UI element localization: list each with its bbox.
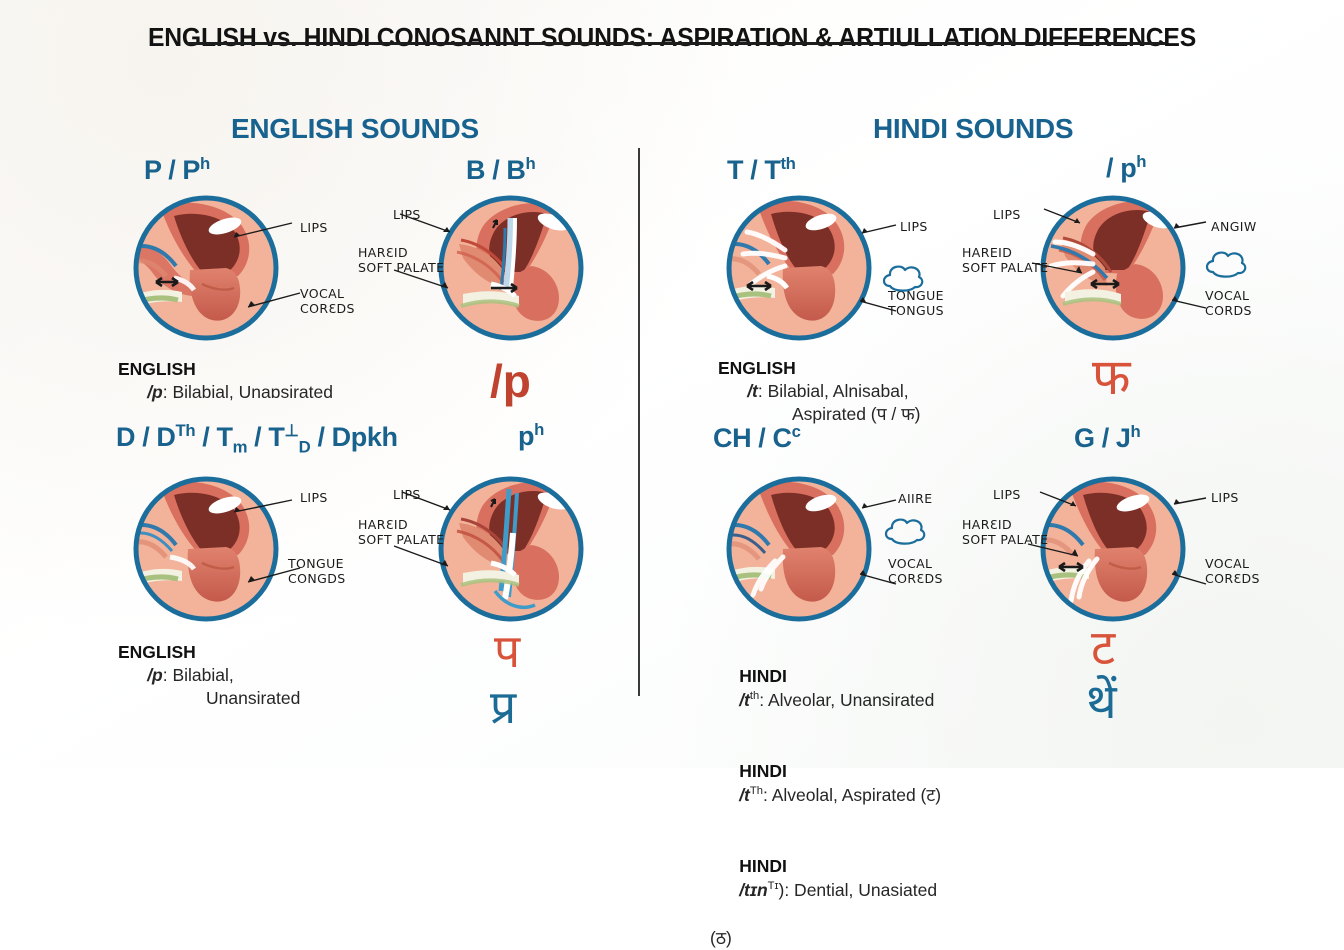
pair-label-sub2: D <box>299 437 311 456</box>
caption-english-d: ENGLISH /p: Bilabial, Unansirated <box>118 641 458 710</box>
callout-palate-english-b: HARƐID SOFT PALATE <box>358 246 444 276</box>
caption-rest: : Alveolar, Unansirated <box>759 690 934 710</box>
title-area: ENGLISH vs. HINDI CONOSANNT SOUNDS: ASPI… <box>0 24 1344 53</box>
pair-label-text: T / T <box>727 155 781 185</box>
pair-label-text: CH / C <box>713 423 792 453</box>
pair-label-hindi-t: T / Tth <box>727 154 796 186</box>
aspiration-puff-icon-hindi-ch <box>882 515 928 549</box>
caption-sup: Th <box>750 785 763 797</box>
aspiration-puff-icon-hindi-ph <box>1203 248 1249 282</box>
diagram-english-ph <box>435 473 587 625</box>
callout-lips-hindi-t: LIPS <box>900 220 928 235</box>
caption-hindi-line-2: HINDI /tTh: Alveolal, Aspirated (ट) <box>710 736 1060 831</box>
callout-lips-english-p: LIPS <box>300 221 328 236</box>
pair-label-text: G / J <box>1074 423 1131 453</box>
callout-lips-hindi-ph: LIPS <box>993 208 1021 223</box>
callout-lips-english-b: LIPS <box>393 208 421 223</box>
pair-label-sup: c <box>792 422 801 441</box>
caption-rest: ): Dential, Unasiated <box>779 880 938 900</box>
caption-hindi-line-1: HINDI /tth: Alveolar, Unansirated <box>710 641 1060 736</box>
pair-label-text: p <box>518 421 534 451</box>
callout-vocal-cords-english-p: VOCAL CORƐDS <box>300 287 355 317</box>
pair-label-rest: / T <box>195 422 232 452</box>
pair-label-sub: m <box>233 437 247 456</box>
caption-sup: Tɪ <box>768 880 779 892</box>
callout-vocal-cords-hindi-g: VOCAL CORƐDS <box>1205 557 1260 587</box>
pair-label-sup: h <box>1131 422 1141 441</box>
pair-label-english-d: D / DTh / Tm / T⊥D / Dpkh <box>116 420 398 457</box>
column-divider <box>638 148 640 696</box>
caption-hindi-t: ENGLISH /t: Bilabial, Alnisabal, Aspirat… <box>718 357 1048 426</box>
caption-ipa: /p <box>147 382 163 402</box>
diagram-hindi-t <box>723 192 875 344</box>
callout-tongue-english-d: TONGUE CONGDS <box>288 557 346 587</box>
pair-label-sup: h <box>526 154 536 173</box>
caption-ipa: /t <box>739 785 750 805</box>
callout-vocal-cords-hindi-ph: VOCAL CORDS <box>1205 289 1252 319</box>
caption-hindi-line-3: HINDI /tɪnTɪ): Dential, Unasiated <box>710 831 1060 926</box>
pair-label-english-p: P / Ph <box>144 154 210 186</box>
pair-label-english-ph: ph <box>518 420 544 452</box>
pair-label-text: D / D <box>116 422 176 452</box>
caption-rest: : Bilabial, Alnisabal, <box>758 381 909 401</box>
callout-lips-left-hindi-g: LIPS <box>993 488 1021 503</box>
callout-palate-hindi-g: HARƐID SOFT PALATE <box>962 518 1048 548</box>
pair-label-sup: Th <box>176 421 196 440</box>
caption-rest: : Alveolal, Aspirated (ट) <box>763 785 941 805</box>
page-title: ENGLISH vs. HINDI CONOSANNT SOUNDS: ASPI… <box>20 24 1324 53</box>
caption-rest: : Bilabial, Unaɒsirated <box>163 382 333 402</box>
pair-label-english-b: B / Bh <box>466 154 535 186</box>
pair-label-text: P / P <box>144 155 200 185</box>
aspiration-puff-icon-hindi-t <box>880 262 926 296</box>
callout-palate-english-ph: HARƐID SOFT PALATE <box>358 518 444 548</box>
pair-label-sup: h <box>534 420 544 439</box>
caption-lang-label: ENGLISH <box>118 642 196 662</box>
caption-ipa: /t <box>747 381 758 401</box>
glyph-devanagari-pha: फ <box>1092 352 1131 402</box>
caption-lang-label: ENGLISH <box>118 359 196 379</box>
caption-sup: th <box>750 690 759 702</box>
callout-airflow-hindi-ph: ANGIW <box>1211 220 1257 235</box>
callout-lips-english-d: LIPS <box>300 491 328 506</box>
caption-line2: Unansirated <box>118 687 458 710</box>
callout-lips-english-ph: LIPS <box>393 488 421 503</box>
pair-label-text: B / B <box>466 155 526 185</box>
diagram-hindi-ch <box>723 473 875 625</box>
glyph-devanagari-pa: प <box>494 628 520 674</box>
pair-label-sup: th <box>781 154 796 173</box>
caption-ipa: /tɪn <box>739 880 767 900</box>
pair-label-rest3: / Dpkh <box>310 422 397 452</box>
callout-airflow-hindi-ch: AIIRE <box>898 492 933 507</box>
pair-label-hindi-ph: / ph <box>1106 152 1146 184</box>
glyph-devanagari-tta: ट <box>1091 624 1115 672</box>
caption-hindi-bottom: HINDI /tth: Alveolar, Unansirated HINDI … <box>710 641 1060 950</box>
infographic-page: ENGLISH vs. HINDI CONOSANNT SOUNDS: ASPI… <box>0 0 1344 768</box>
caption-lang-label: HINDI <box>739 856 787 876</box>
caption-lang-label: HINDI <box>739 666 787 686</box>
caption-rest: : Bilabial, <box>163 665 234 685</box>
section-heading-hindi: HINDI SOUNDS <box>873 113 1073 145</box>
callout-palate-hindi-ph: HAREID SOFT PALATE <box>962 246 1048 276</box>
caption-hindi-line-4: (ठ) <box>710 927 1060 950</box>
glyph-devanagari-pra: प्र <box>490 684 516 730</box>
pair-label-sup: h <box>200 154 210 173</box>
callout-lips-right-hindi-g: LIPS <box>1211 491 1239 506</box>
pair-label-sup2: ⊥ <box>284 421 298 440</box>
pair-label-text: / p <box>1106 153 1136 183</box>
title-underline <box>186 42 1166 45</box>
section-heading-english: ENGLISH SOUNDS <box>231 113 479 145</box>
diagram-english-b <box>435 192 587 344</box>
caption-ipa: /p <box>147 665 163 685</box>
pair-label-hindi-g: G / Jh <box>1074 422 1140 454</box>
pair-label-sup: h <box>1136 152 1146 171</box>
glyph-devanagari-then: थें <box>1086 678 1117 726</box>
caption-lang-label: HINDI <box>739 761 787 781</box>
pair-label-rest2: / T <box>247 422 284 452</box>
glyph-slash-p: /p <box>490 358 531 404</box>
caption-ipa: /t <box>739 690 750 710</box>
caption-english-p: ENGLISH /p: Bilabial, Unaɒsirated <box>118 358 448 404</box>
pair-label-hindi-ch: CH / Cc <box>713 422 801 454</box>
callout-vocal-cords-hindi-ch: VOCAL CORƐDS <box>888 557 943 587</box>
caption-lang-label: ENGLISH <box>718 358 796 378</box>
